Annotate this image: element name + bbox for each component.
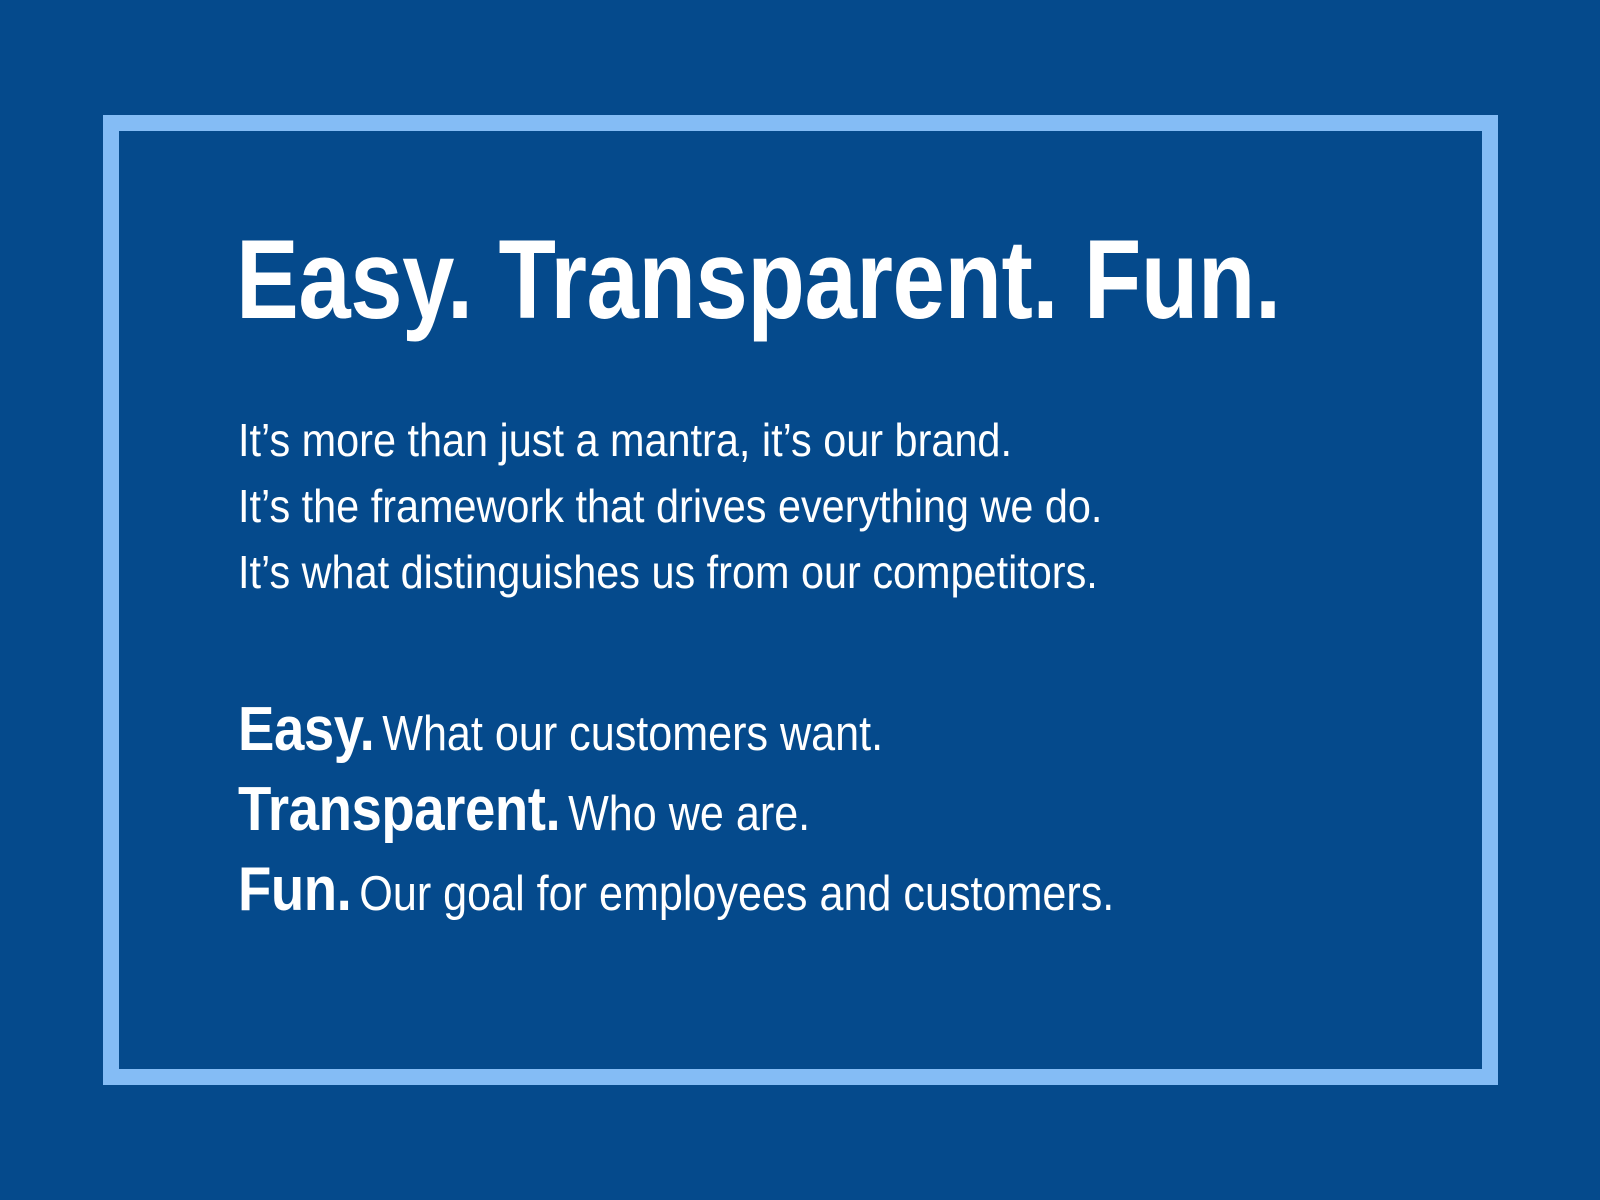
brand-mantra-slide: Easy. Transparent. Fun. It’s more than j… [0,0,1600,1200]
definition-item-easy: Easy.What our customers want. [238,690,1114,770]
intro-line-2: It’s the framework that drives everythin… [238,473,1102,539]
definition-list: Easy.What our customers want. Transparen… [238,690,1114,930]
slide-headline: Easy. Transparent. Fun. [236,224,1281,336]
intro-line-3: It’s what distinguishes us from our comp… [238,539,1102,605]
slide-content: Easy. Transparent. Fun. It’s more than j… [236,115,1416,1085]
definition-description-easy: What our customers want. [382,707,883,761]
definition-term-fun: Fun. [238,855,351,924]
definition-description-fun: Our goal for employees and customers. [359,867,1114,921]
definition-term-easy: Easy. [238,695,374,764]
intro-paragraph: It’s more than just a mantra, it’s our b… [238,407,1102,605]
definition-description-transparent: Who we are. [568,787,810,841]
intro-line-1: It’s more than just a mantra, it’s our b… [238,407,1102,473]
definition-item-fun: Fun.Our goal for employees and customers… [238,850,1114,930]
definition-term-transparent: Transparent. [238,775,560,844]
definition-item-transparent: Transparent.Who we are. [238,770,1114,850]
